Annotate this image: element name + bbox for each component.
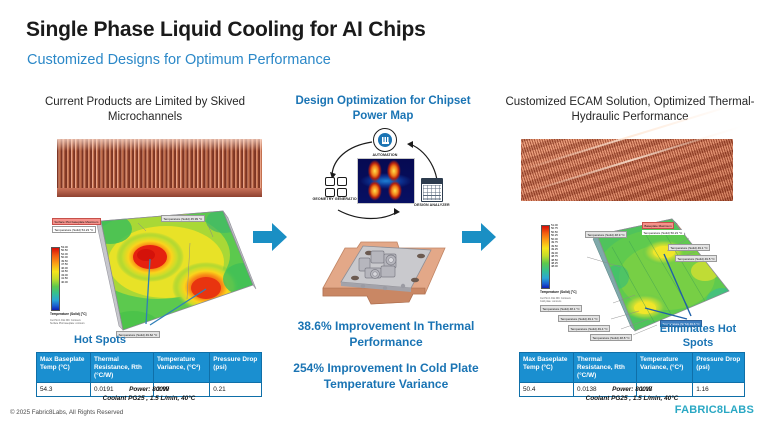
callout-baseplate-max-value-left: Temperature (Solid) 54.23 °C bbox=[52, 226, 96, 233]
cold-plate-render bbox=[305, 236, 465, 316]
callout-baseplate-max-value-right: Temperature (Solid) 50.23 °C bbox=[642, 230, 684, 235]
improvement-variance: 254% Improvement In Cold Plate Temperatu… bbox=[281, 360, 491, 392]
automation-gear-icon bbox=[373, 128, 397, 152]
cycle-node-analyzer: DESIGN ANALYZER bbox=[408, 178, 456, 207]
callout-temp-right-0: Temperature (Solid) 48.9 °C bbox=[585, 231, 627, 238]
callout-temp-right-2: Temperature (Solid) 49.5 °C bbox=[675, 255, 717, 262]
callout-temp-top-left: Temperature (Solid) 45.99 °C bbox=[161, 215, 205, 222]
ecam-copper-photo bbox=[521, 139, 733, 201]
cycle-node-label: DESIGN ANALYZER bbox=[408, 203, 456, 207]
table-col-1: Thermal Resistance, Rth (°C/W) bbox=[91, 353, 154, 383]
geometry-blocks-icon bbox=[323, 178, 349, 196]
cycle-node-label: AUTOMATION bbox=[361, 153, 409, 157]
eliminates-hot-spots-label: Eliminates Hot Spots bbox=[648, 322, 748, 350]
callout-baseplate-max-left: Surface Plot baseplate Maximum bbox=[52, 218, 101, 225]
page-subtitle: Customized Designs for Optimum Performan… bbox=[27, 52, 331, 68]
company-logo: FABRIC8LABS bbox=[675, 404, 754, 416]
hot-spots-label: Hot Spots bbox=[74, 334, 126, 346]
table-col-2: Temperature Variance, (°C²) bbox=[637, 353, 693, 383]
table-header-row: Max Baseplate Temp (°C) Thermal Resistan… bbox=[37, 353, 262, 383]
cycle-node-geometry: GEOMETRY GENERATION bbox=[312, 178, 360, 201]
callout-temp-right-3: Temperature (Solid) 48.1 °C bbox=[540, 305, 582, 312]
table-header-row: Max Baseplate Temp (°C) Thermal Resistan… bbox=[520, 353, 745, 383]
table-col-0: Max Baseplate Temp (°C) bbox=[520, 353, 574, 383]
table-col-3: Pressure Drop (psi) bbox=[210, 353, 262, 383]
colorbar-ticks-left: 53.0050.5052.0050.0049.5047.5046.0044.50… bbox=[61, 246, 68, 284]
colorbar-subcaption-right: Cut Plot 1 Dist Rth: ContoursCold plate:… bbox=[540, 297, 604, 303]
design-optimization-cycle: AUTOMATION GEOMETRY GENERATION DESIGN AN… bbox=[300, 128, 470, 233]
colorbar-subcaption-left: Cut Plot 1 Dist Rth: ContoursSurface Plo… bbox=[50, 319, 120, 325]
chipset-power-map-thumbnail bbox=[357, 158, 415, 204]
analyzer-grid-icon bbox=[421, 178, 443, 202]
colorbar-ticks-right: 51.0050.7550.5050.2550.0049.7549.5049.25… bbox=[551, 224, 558, 269]
page-title: Single Phase Liquid Cooling for AI Chips bbox=[26, 18, 426, 42]
test-conditions-left: Power: 800W Coolant PG25 , 1.5 L/min, 40… bbox=[36, 385, 262, 403]
callout-temp-right-6: Temperature (Solid) 48.8 °C bbox=[590, 334, 632, 341]
cycle-node-automation: AUTOMATION bbox=[361, 128, 409, 157]
callout-temp-right-4: Temperature (Solid) 49.1 °C bbox=[558, 315, 600, 322]
colorbar-caption-right: Temperature (Solid) [°C] bbox=[540, 290, 576, 294]
copyright-notice: © 2025 Fabric8Labs, All Rights Reserved bbox=[10, 409, 123, 416]
power-value: Power: 800W bbox=[129, 386, 169, 393]
callout-temp-right-5: Temperature (Solid) 49.4 °C bbox=[568, 325, 610, 332]
skived-microchannel-base bbox=[57, 188, 262, 197]
table-col-3: Pressure Drop (psi) bbox=[693, 353, 745, 383]
coolant-value: Coolant PG25 , 1.5 L/min, 40°C bbox=[586, 395, 679, 402]
callout-temp-right-1: Temperature (Solid) 49.1 °C bbox=[668, 244, 710, 251]
cfd-plot-left: 53.0050.5052.0050.0049.5047.5046.0044.50… bbox=[38, 207, 286, 342]
column-header-right: Customized ECAM Solution, Optimized Ther… bbox=[500, 95, 760, 125]
colorbar-caption-left: Temperature (Solid) [°C] bbox=[50, 312, 86, 316]
slide-root: Single Phase Liquid Cooling for AI Chips… bbox=[0, 0, 768, 432]
cycle-node-label: GEOMETRY GENERATION bbox=[312, 197, 360, 201]
improvement-thermal: 38.6% Improvement In Thermal Performance bbox=[281, 318, 491, 350]
table-col-1: Thermal Resistance, Rth (°C/W) bbox=[574, 353, 637, 383]
callout-baseplate-max-right: Baseplate Maximum bbox=[642, 222, 674, 229]
column-header-middle: Design Optimization for Chipset Power Ma… bbox=[283, 94, 483, 124]
colorbar-left bbox=[51, 247, 60, 311]
coolant-value: Coolant PG25 , 1.5 L/min, 40°C bbox=[103, 395, 196, 402]
test-conditions-right: Power: 800W Coolant PG25 , 1.5 L/min, 40… bbox=[519, 385, 745, 403]
column-header-left: Current Products are Limited by Skived M… bbox=[20, 95, 270, 125]
table-col-2: Temperature Variance, (°C²) bbox=[154, 353, 210, 383]
colorbar-right bbox=[541, 225, 550, 289]
power-value: Power: 800W bbox=[612, 386, 652, 393]
table-col-0: Max Baseplate Temp (°C) bbox=[37, 353, 91, 383]
